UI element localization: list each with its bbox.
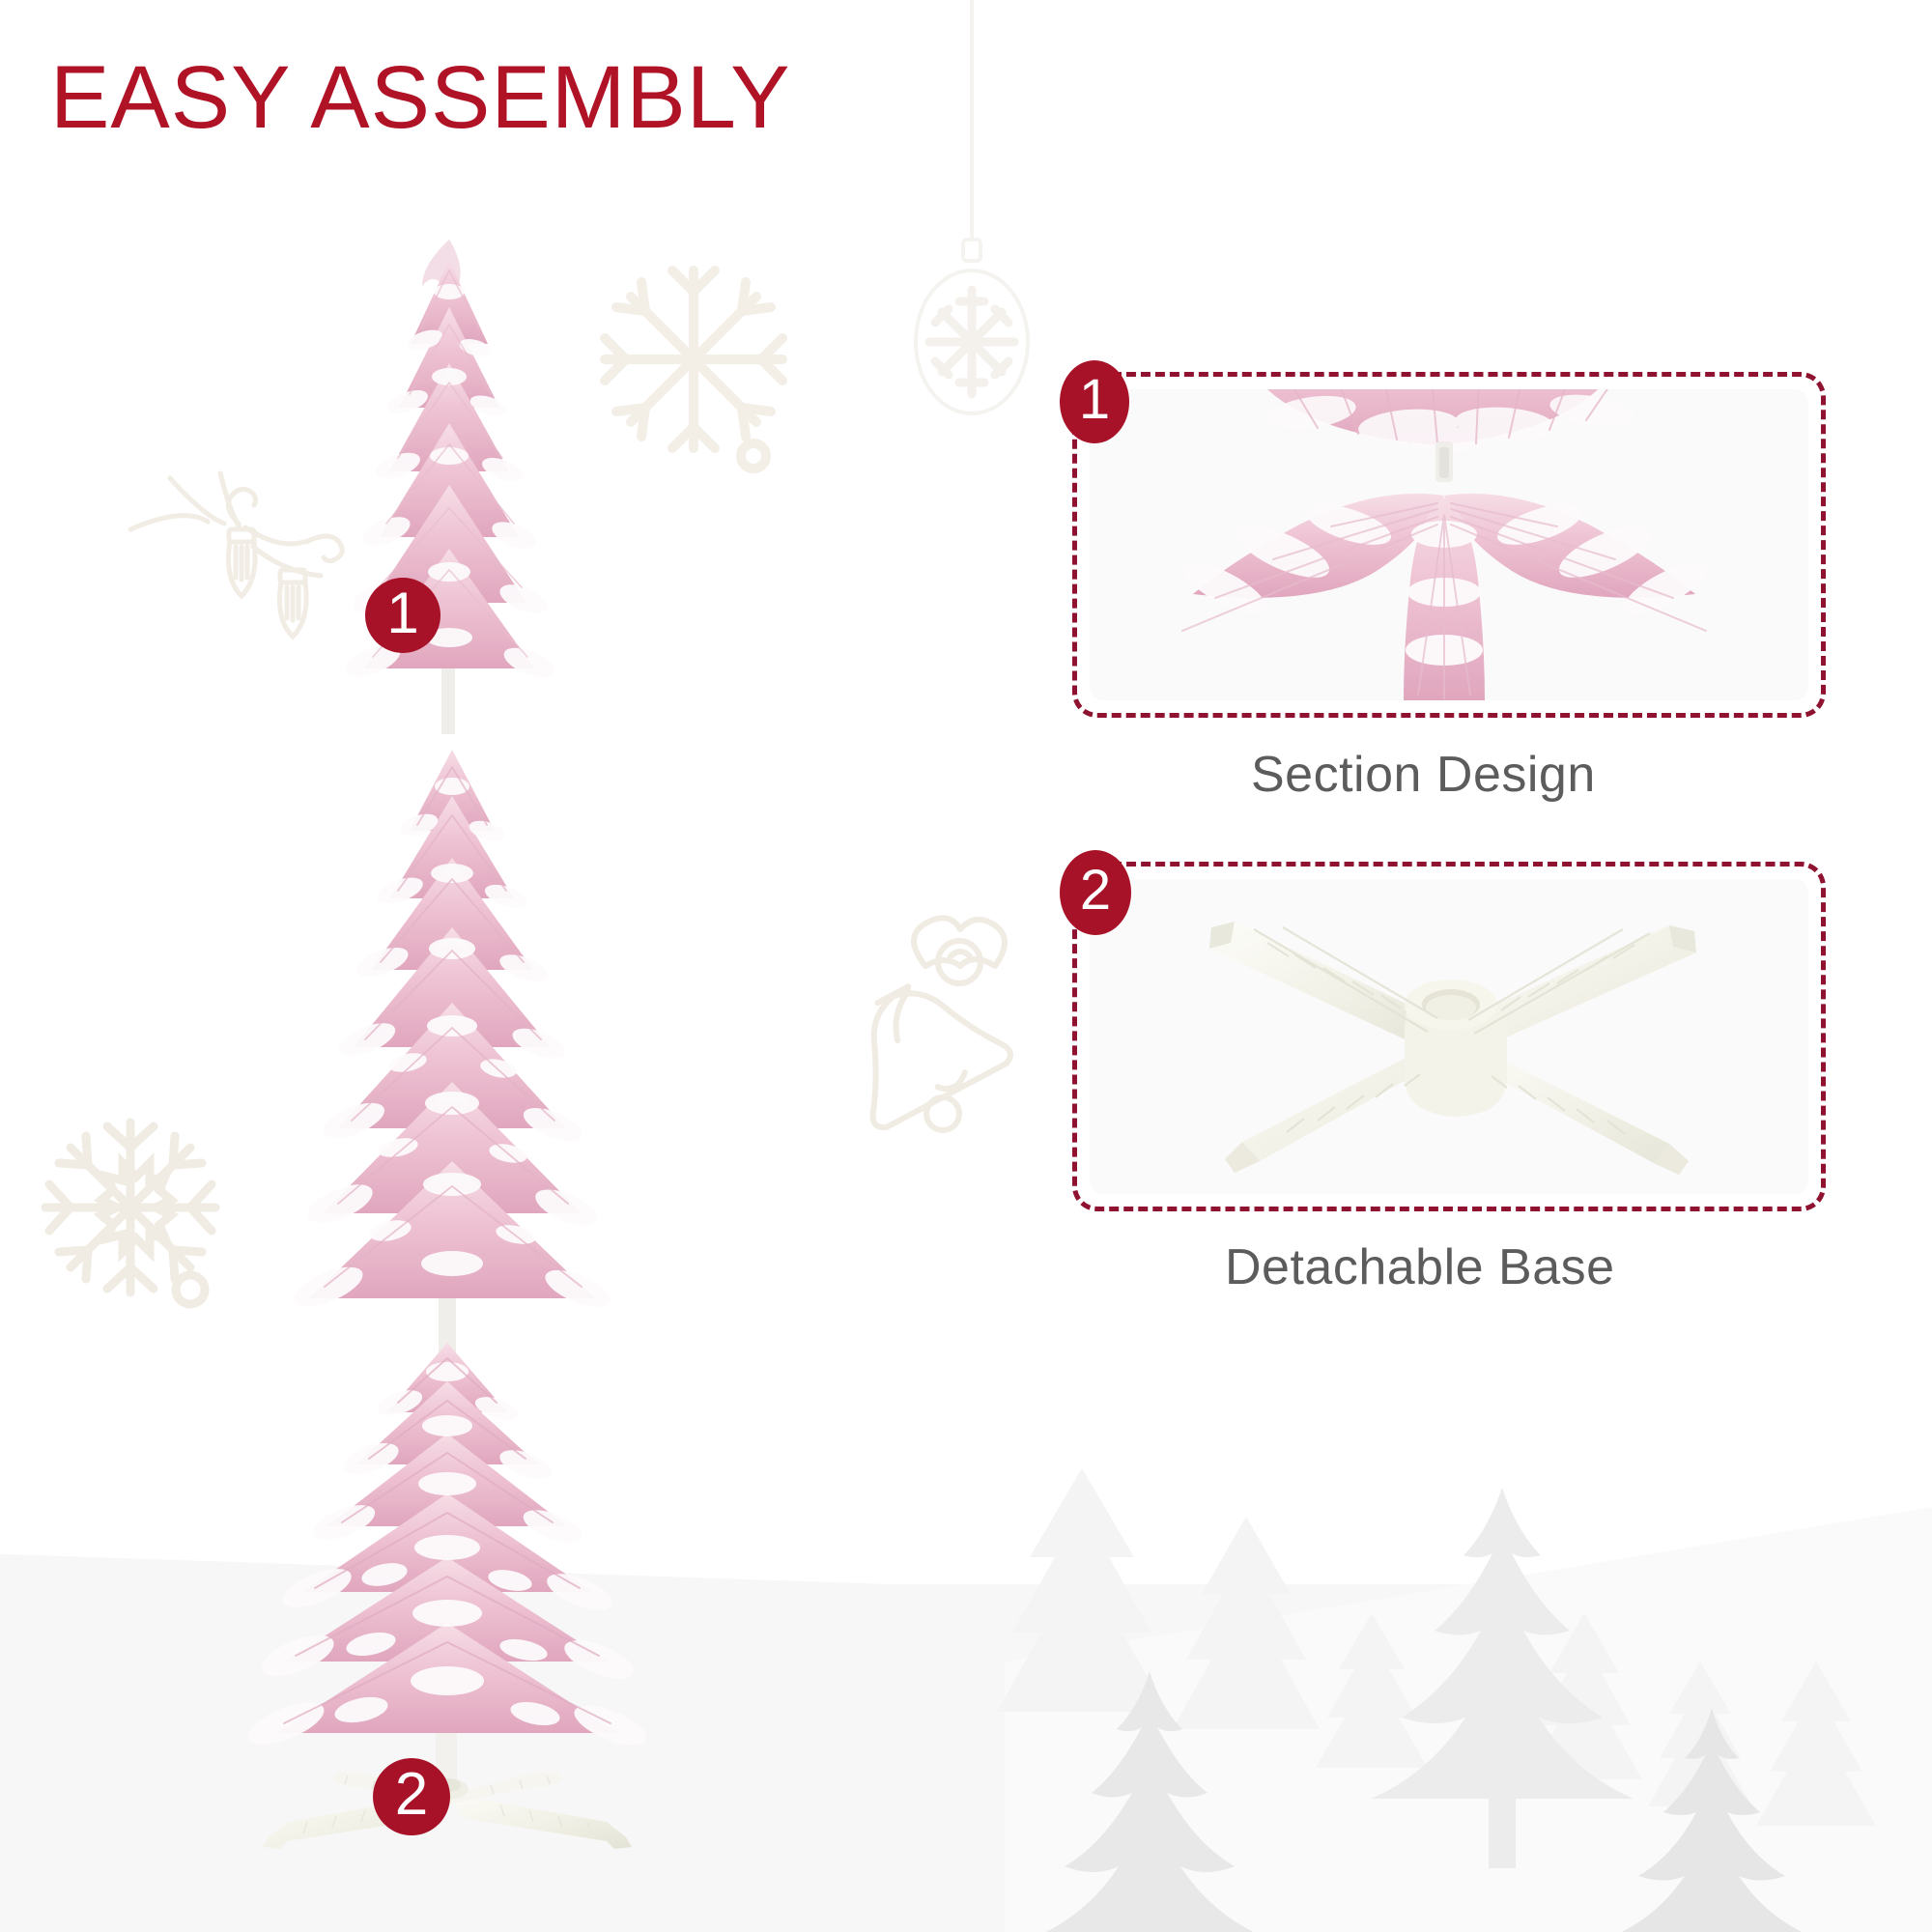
- badge-label: 1: [1079, 372, 1110, 428]
- tree-middle-section: [263, 744, 641, 1362]
- callout-caption-detachable-base: Detachable Base: [1225, 1238, 1615, 1296]
- tree-badge-1: 1: [365, 578, 440, 653]
- badge-label: 1: [386, 584, 418, 642]
- callout-card-detachable-base: [1072, 862, 1826, 1211]
- tree-badge-2: 2: [373, 1758, 450, 1835]
- callout-badge-1: 1: [1060, 360, 1129, 443]
- infographic-canvas: EASY ASSEMBLY: [0, 0, 1932, 1932]
- ornament-ball-icon: [916, 0, 1028, 413]
- snowflake-icon: [45, 1122, 215, 1304]
- snowflake-icon: [605, 270, 782, 469]
- badge-label: 2: [1080, 863, 1111, 919]
- callout-dashed-frame: [1072, 862, 1826, 1211]
- page-title: EASY ASSEMBLY: [50, 53, 790, 142]
- bell-icon: [825, 918, 1013, 1131]
- badge-label: 2: [395, 1765, 428, 1825]
- callout-badge-2: 2: [1060, 850, 1131, 935]
- tree-top-section: [290, 232, 609, 734]
- callout-dashed-frame: [1072, 372, 1826, 718]
- callout-caption-section-design: Section Design: [1251, 746, 1596, 804]
- callout-card-section-design: [1072, 372, 1826, 718]
